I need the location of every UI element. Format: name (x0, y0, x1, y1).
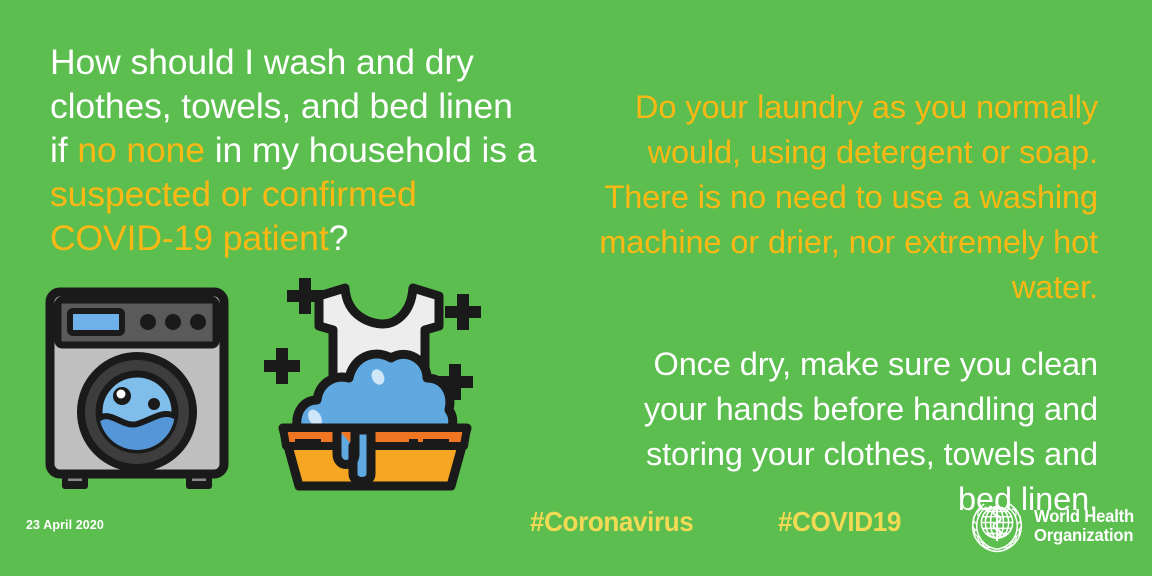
rod-of-asclepius (994, 504, 1001, 541)
advice-primary-paragraph: Do your laundry as you normally would, u… (588, 85, 1098, 310)
sparkle-icon-top-right (445, 294, 481, 330)
hashtag-covid19[interactable]: #COVID19 (778, 506, 901, 538)
date-stamp: 23 April 2020 (26, 518, 104, 532)
who-wordmark: World Health Organization (1034, 507, 1134, 546)
advice-secondary-paragraph: Once dry, make sure you clean your hands… (588, 342, 1098, 522)
who-logo: World Health Organization (968, 497, 1139, 555)
who-wordmark-line-1: World Health (1034, 507, 1134, 527)
question-line-2: clothes, towels, and bed linen (50, 86, 513, 126)
question-highlight-no-none: no none (77, 130, 205, 170)
hashtag-group: #Coronavirus #COVID19 (530, 506, 910, 538)
who-wordmark-line-2: Organization (1034, 526, 1134, 546)
question-line-3-suffix: in my household is a (205, 130, 536, 170)
question-highlight-covid-patient: COVID-19 patient (50, 218, 329, 258)
washer-knobs (140, 314, 206, 330)
question-line-3-prefix: if (50, 130, 77, 170)
hashtag-coronavirus[interactable]: #Coronavirus (530, 506, 693, 538)
washing-machine-icon (42, 284, 232, 499)
who-covid-infographic: How should I wash and dry clothes, towel… (0, 0, 1152, 576)
advice-text-group: Do your laundry as you normally would, u… (588, 52, 1098, 555)
who-emblem-icon (968, 497, 1026, 555)
question-highlight-suspected-confirmed: suspected or confirmed (50, 174, 417, 214)
question-line-1: How should I wash and dry (50, 42, 474, 82)
question-heading: How should I wash and dry clothes, towel… (50, 40, 580, 260)
question-mark: ? (329, 218, 349, 258)
laundry-basket-icon (261, 278, 491, 493)
illustration-group (36, 278, 506, 503)
sparkle-icon-mid-left (264, 348, 300, 384)
